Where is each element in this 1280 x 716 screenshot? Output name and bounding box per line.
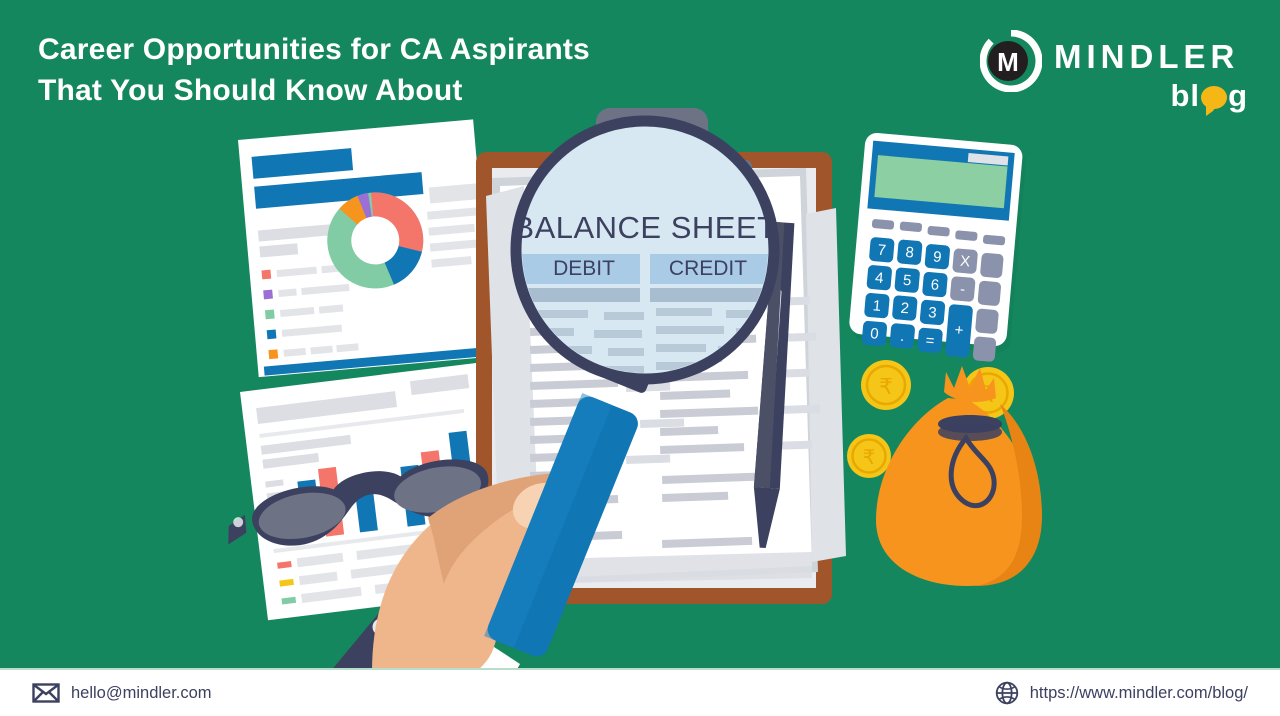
debit-label: DEBIT (553, 257, 615, 280)
footer-url[interactable]: https://www.mindler.com/blog/ (995, 681, 1248, 705)
svg-text:=: = (925, 332, 935, 350)
svg-text:6: 6 (930, 276, 940, 294)
flat-illustration: BALANCE SHEET DEBIT CREDIT 7 8 9 (0, 0, 1280, 716)
footer-bar: hello@mindler.com https://www.mindler.co… (0, 668, 1280, 716)
svg-text:2: 2 (900, 300, 910, 318)
svg-text:₹: ₹ (879, 375, 893, 400)
svg-text:5: 5 (902, 272, 912, 290)
balance-sheet-title: BALANCE SHEET (513, 210, 776, 245)
magnifier-lens: BALANCE SHEET DEBIT CREDIT (513, 121, 776, 379)
footer-email[interactable]: hello@mindler.com (32, 683, 212, 703)
svg-text:7: 7 (877, 241, 887, 259)
calculator: 7 8 9 X 4 5 6 - 1 2 3 + 0 . = (847, 132, 1027, 363)
svg-text:9: 9 (932, 248, 942, 266)
svg-text:8: 8 (905, 244, 915, 262)
svg-text:X: X (959, 253, 970, 271)
credit-label: CREDIT (669, 257, 747, 280)
svg-text:0: 0 (870, 325, 880, 343)
svg-text:1: 1 (872, 297, 882, 315)
envelope-icon (32, 683, 60, 703)
svg-text:3: 3 (928, 304, 938, 322)
footer-email-text: hello@mindler.com (71, 684, 212, 703)
svg-text:4: 4 (874, 269, 884, 287)
globe-icon (995, 681, 1019, 705)
blog-banner: Career Opportunities for CA Aspirants Th… (0, 0, 1280, 716)
svg-text:₹: ₹ (863, 445, 876, 469)
footer-url-text: https://www.mindler.com/blog/ (1030, 684, 1248, 703)
donut-chart-document (236, 119, 502, 404)
svg-text:+: + (954, 322, 964, 340)
